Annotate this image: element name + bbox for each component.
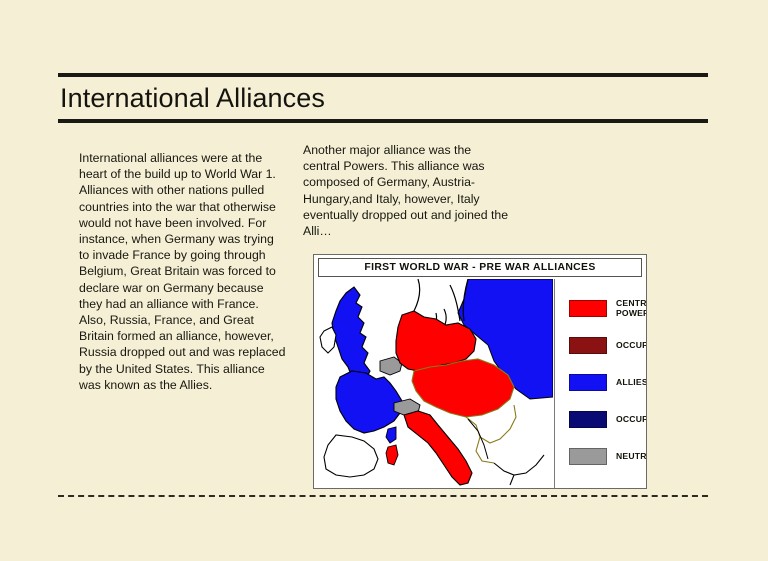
legend-item: OCCUPIED [569,404,646,434]
map-title-bar: FIRST WORLD WAR - PRE WAR ALLIANCES [318,258,642,277]
legend-label-occupied-allied: OCCUPIED [616,414,647,424]
map-canvas [318,279,553,488]
legend-swatch-allies [569,374,607,391]
legend-swatch-central-powers [569,300,607,317]
map-title: FIRST WORLD WAR - PRE WAR ALLIANCES [364,262,595,273]
legend-item: CENTRAL POWERS [569,293,646,323]
legend-label-central-powers: CENTRAL POWERS [616,298,647,318]
legend-label-allies: ALLIES [616,377,647,387]
legend-swatch-occupied-allied [569,411,607,428]
title-rule-top [58,73,708,77]
legend-swatch-occupied-central [569,337,607,354]
page-title: International Alliances [60,80,706,118]
body-text-right-column: Another major alliance was the central P… [303,142,509,239]
legend-swatch-neutral [569,448,607,465]
legend-item: OCCUPIED [569,330,646,360]
title-rule-bottom [58,119,708,123]
europe-alliance-map-svg [318,279,553,488]
legend-label-occupied-central: OCCUPIED [616,340,647,350]
map-figure[interactable]: FIRST WORLD WAR - PRE WAR ALLIANCES [313,254,647,489]
legend-item: ALLIES [569,367,646,397]
left-column-paragraph: International alliances were at the hear… [79,150,287,393]
body-text-left-column: International alliances were at the hear… [79,150,287,393]
right-column-paragraph: Another major alliance was the central P… [303,142,509,239]
legend-label-neutral: NEUTRAL [616,451,647,461]
bottom-dashed-divider [58,495,708,497]
slide-canvas: International Alliances International al… [0,0,768,561]
map-legend: CENTRAL POWERS OCCUPIED ALLIES OCCUPIED … [554,279,646,488]
legend-item: NEUTRAL [569,441,646,471]
